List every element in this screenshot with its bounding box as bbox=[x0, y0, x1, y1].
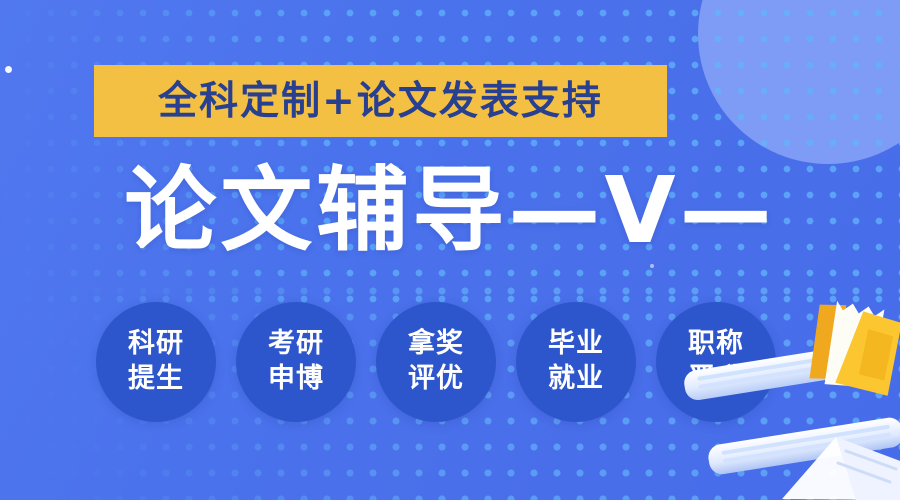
badge-label-line1: 职称 bbox=[688, 327, 744, 362]
badge-label-line2: 晋升 bbox=[688, 362, 744, 397]
tagline-text: 全科定制+论文发表支持 bbox=[158, 82, 603, 121]
badge-label-line2: 申博 bbox=[268, 362, 324, 397]
badge-label-line2: 评优 bbox=[408, 362, 464, 397]
badge-label-line1: 拿奖 bbox=[408, 327, 464, 362]
page-title: 论文辅导—V— bbox=[0, 158, 900, 264]
badge-najiang-pingyou[interactable]: 拿奖 评优 bbox=[376, 302, 496, 422]
badge-list: 科研 提生 考研 申博 拿奖 评优 毕业 就业 职称 晋升 bbox=[96, 302, 776, 422]
tagline-bar: 全科定制+论文发表支持 bbox=[94, 65, 667, 137]
badge-kaoyan-shenbo[interactable]: 考研 申博 bbox=[236, 302, 356, 422]
badge-label-line1: 毕业 bbox=[548, 327, 604, 362]
badge-zhicheng-jinsheng[interactable]: 职称 晋升 bbox=[656, 302, 776, 422]
sparkle-dot-left bbox=[5, 66, 12, 73]
badge-label-line2: 就业 bbox=[548, 362, 604, 397]
badge-label-line1: 科研 bbox=[128, 327, 184, 362]
badge-label-line2: 提生 bbox=[128, 362, 184, 397]
promo-banner: 全科定制+论文发表支持 论文辅导—V— 科研 提生 考研 申博 拿奖 评优 毕业… bbox=[0, 0, 900, 500]
badge-label-line1: 考研 bbox=[268, 327, 324, 362]
sparkle-dot-low bbox=[650, 264, 654, 268]
badge-biye-jiuye[interactable]: 毕业 就业 bbox=[516, 302, 636, 422]
badge-keyan-tisheng[interactable]: 科研 提生 bbox=[96, 302, 216, 422]
